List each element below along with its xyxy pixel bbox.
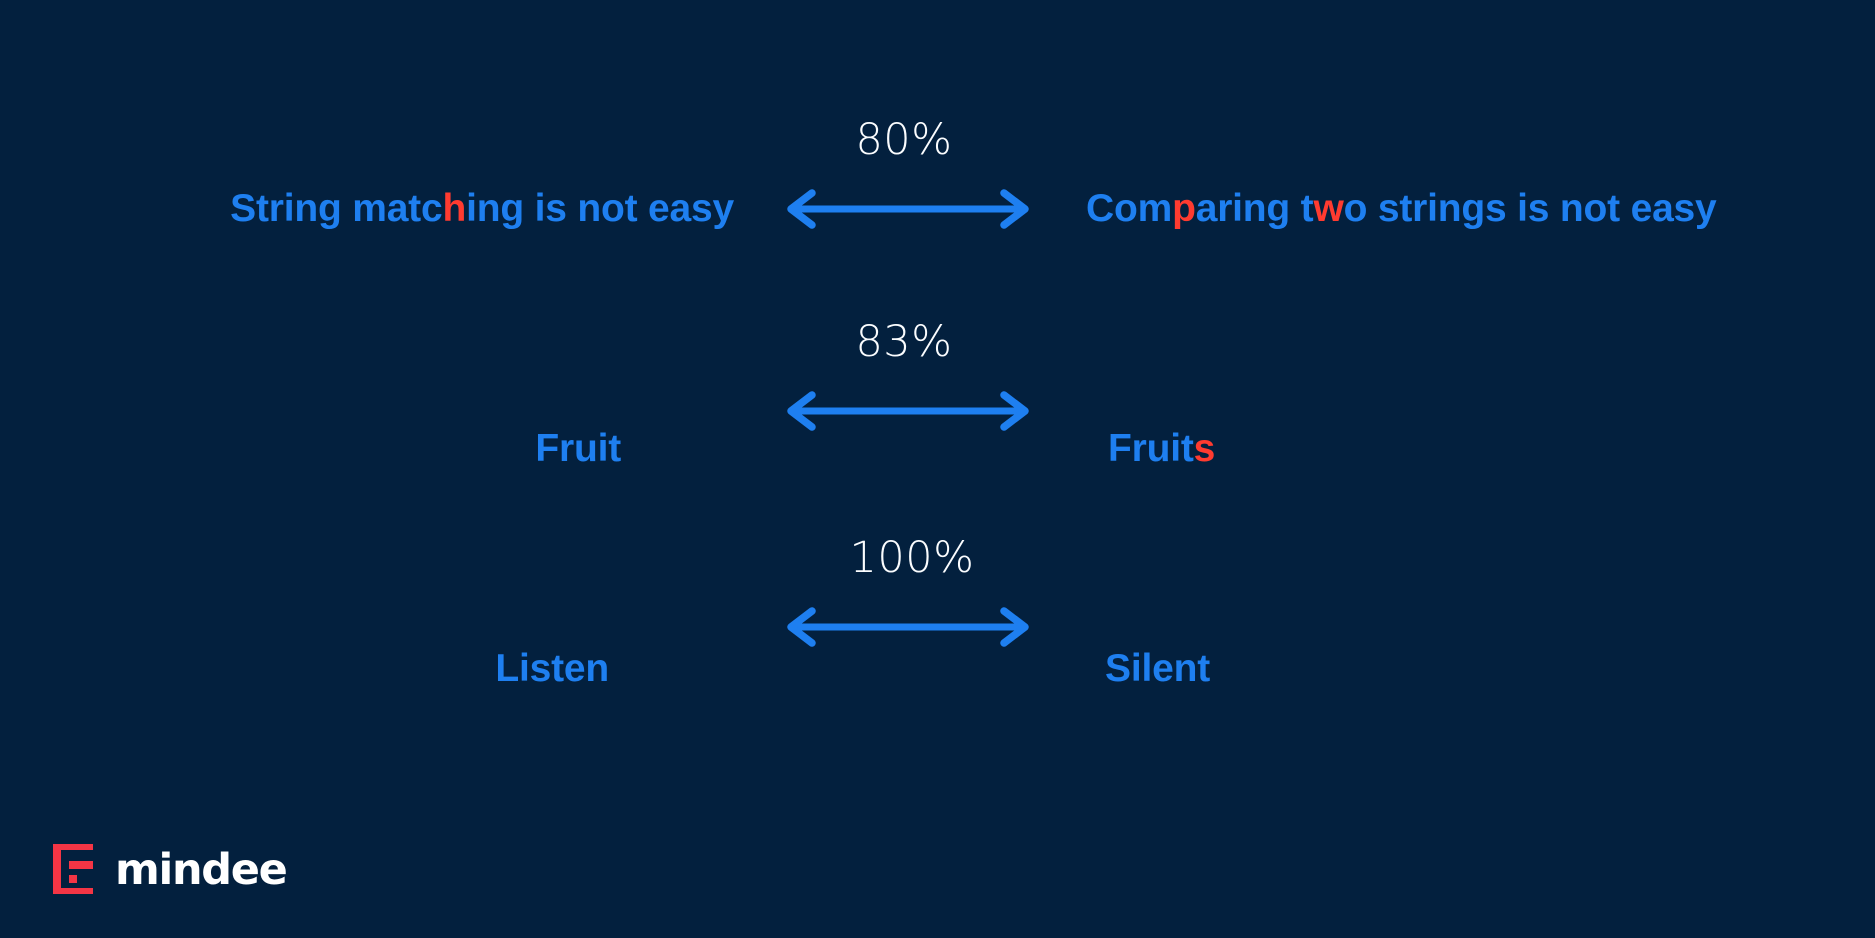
similarity-indicator: 80%	[778, 118, 1038, 238]
match-percentage-label: 80%	[774, 118, 1034, 163]
mindee-logo: mindee	[47, 843, 286, 895]
comparison-left-term: Fruit	[535, 429, 621, 468]
double-headed-horizontal-arrow-icon	[778, 186, 1038, 232]
term-text: o strings is not easy	[1344, 187, 1717, 230]
comparison-right-term: Fruits	[1108, 429, 1215, 468]
term-text: Com	[1086, 187, 1172, 230]
term-text: String matc	[230, 187, 442, 230]
similarity-indicator: 100%	[778, 536, 1038, 656]
term-text: ing is not easy	[466, 187, 734, 230]
term-text: aring t	[1196, 187, 1314, 230]
term-text: Listen	[495, 647, 609, 690]
term-text: Fruit	[1108, 427, 1194, 470]
highlighted-letter: s	[1194, 427, 1216, 470]
comparison-right-term: Comparing two strings is not easy	[1086, 189, 1717, 228]
mindee-wordmark: mindee	[115, 849, 286, 892]
match-percentage-label: 100%	[782, 536, 1042, 581]
mindee-bracket-logo-icon	[47, 844, 95, 894]
double-headed-horizontal-arrow-icon	[778, 388, 1038, 434]
term-text: Silent	[1105, 647, 1210, 690]
term-text: Fruit	[535, 427, 621, 470]
comparison-left-term: Listen	[495, 649, 609, 688]
highlighted-letter: w	[1313, 187, 1343, 230]
similarity-indicator: 83%	[778, 320, 1038, 440]
double-headed-horizontal-arrow-icon	[778, 604, 1038, 650]
comparison-left-term: String matching is not easy	[230, 189, 734, 228]
highlighted-letter: p	[1172, 187, 1196, 230]
comparison-right-term: Silent	[1105, 649, 1210, 688]
highlighted-letter: h	[442, 187, 466, 230]
match-percentage-label: 83%	[774, 320, 1034, 365]
diagram-canvas: String matching is not easy Comparing tw…	[0, 0, 1875, 938]
